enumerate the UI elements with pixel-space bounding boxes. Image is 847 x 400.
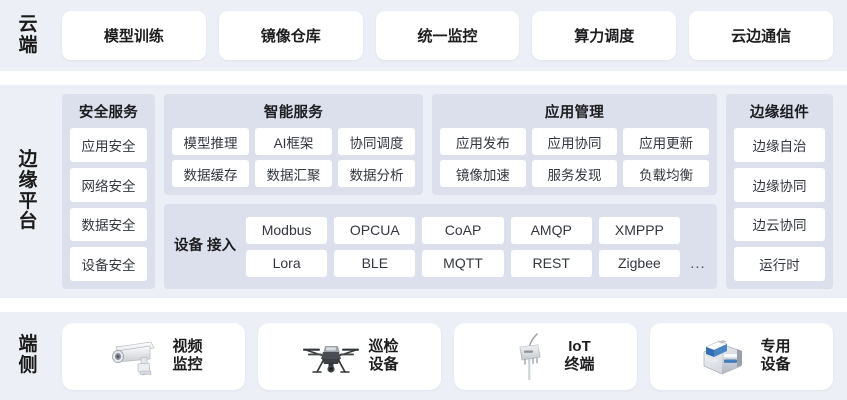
app-management-grid: 应用发布 应用协同 应用更新 镜像加速 服务发现 负载均衡 (440, 128, 709, 187)
device-access-label-line-0: 设备 (174, 238, 203, 254)
component-item-edge-autonomy[interactable]: 边缘自治 (734, 128, 825, 162)
component-item-runtime[interactable]: 运行时 (734, 247, 825, 281)
device-card-dedicated-equipment-label: 专用 设备 (760, 338, 790, 373)
cloud-card-unified-monitoring[interactable]: 统一监控 (376, 11, 520, 60)
protocol-amqp[interactable]: AMQP (511, 217, 592, 244)
security-services-title: 安全服务 (70, 101, 147, 122)
protocol-more-ellipsis[interactable]: ... (687, 255, 709, 272)
device-card-dedicated-equipment[interactable]: 专用 设备 (650, 323, 833, 390)
protocol-zigbee[interactable]: Zigbee (599, 250, 680, 277)
protocol-rest[interactable]: REST (511, 250, 592, 277)
edge-platform-body: 安全服务 应用安全 网络安全 数据安全 设备安全 智能服务 模型推理 (56, 85, 847, 298)
smart-services-title: 智能服务 (172, 101, 415, 122)
smart-item-data-analysis[interactable]: 数据分析 (338, 160, 415, 187)
smart-item-data-aggregation[interactable]: 数据汇聚 (255, 160, 332, 187)
smart-item-collaborative-scheduling[interactable]: 协同调度 (338, 128, 415, 155)
iot-sensor-icon (496, 328, 558, 384)
smart-services-panel: 智能服务 模型推理 AI框架 协同调度 数据缓存 数据汇聚 数据分析 (164, 94, 423, 195)
device-access-label-line-1: 接入 (207, 238, 236, 254)
app-management-panel: 应用管理 应用发布 应用协同 应用更新 镜像加速 服务发现 负载均衡 (432, 94, 717, 195)
edge-platform-label: 边 缘 平 台 (0, 85, 56, 298)
device-access-protocol-grid: Modbus OPCUA CoAP AMQP XMPPP Lora BLE MQ… (246, 217, 709, 277)
cloud-layer-label: 云 端 (0, 0, 56, 71)
device-access-label: 设备 接入 (172, 238, 238, 254)
edge-components-list: 边缘自治 边缘协同 边云协同 运行时 (734, 128, 825, 281)
device-card-video-surveillance[interactable]: 视频 监控 (62, 323, 245, 390)
cloud-layer-body: 模型训练 镜像仓库 统一监控 算力调度 云边通信 (56, 0, 847, 71)
app-management-title: 应用管理 (440, 101, 709, 122)
cloud-label-char-1: 端 (18, 36, 37, 57)
cloud-card-model-training[interactable]: 模型训练 (62, 11, 206, 60)
cloud-label-char-0: 云 (18, 15, 37, 36)
security-item-data-security[interactable]: 数据安全 (70, 208, 147, 242)
security-item-device-security[interactable]: 设备安全 (70, 247, 147, 281)
security-services-column: 安全服务 应用安全 网络安全 数据安全 设备安全 (62, 94, 155, 289)
device-label-line-1: 设备 (760, 356, 790, 374)
drone-icon (300, 328, 362, 384)
cloud-card-row: 模型训练 镜像仓库 统一监控 算力调度 云边通信 (56, 0, 847, 71)
protocol-opcua[interactable]: OPCUA (334, 217, 415, 244)
cloud-card-compute-scheduling[interactable]: 算力调度 (532, 11, 676, 60)
cloud-card-image-registry[interactable]: 镜像仓库 (219, 11, 363, 60)
device-label-line-0: 视频 (172, 338, 202, 356)
device-card-inspection-drone-label: 巡检 设备 (368, 338, 398, 373)
device-label-line-0: 专用 (760, 338, 790, 356)
edge-label-char-3: 台 (18, 212, 37, 233)
app-item-image-acceleration[interactable]: 镜像加速 (440, 160, 526, 187)
app-item-load-balancing[interactable]: 负载均衡 (623, 160, 709, 187)
cctv-camera-icon (104, 328, 166, 384)
protocol-modbus[interactable]: Modbus (246, 217, 327, 244)
protocol-mqtt[interactable]: MQTT (422, 250, 503, 277)
security-item-app-security[interactable]: 应用安全 (70, 128, 147, 162)
device-card-video-surveillance-label: 视频 监控 (172, 338, 202, 373)
component-item-edge-collaboration[interactable]: 边缘协同 (734, 168, 825, 202)
edge-label-char-2: 平 (18, 192, 37, 213)
app-item-app-update[interactable]: 应用更新 (623, 128, 709, 155)
device-card-inspection-drone[interactable]: 巡检 设备 (258, 323, 441, 390)
device-label-line-1: 终端 (564, 356, 594, 374)
device-access-panel: 设备 接入 Modbus OPCUA CoAP AMQP XMPPP Lora … (164, 204, 717, 289)
device-layer-band: 端 侧 (0, 312, 847, 400)
architecture-diagram: 云 端 模型训练 镜像仓库 统一监控 算力调度 云边通信 边 缘 平 台 安全服… (0, 0, 847, 400)
app-item-service-discovery[interactable]: 服务发现 (532, 160, 618, 187)
component-item-edge-cloud-collaboration[interactable]: 边云协同 (734, 208, 825, 242)
protocol-xmppp[interactable]: XMPPP (599, 217, 680, 244)
edge-label-char-1: 缘 (18, 171, 37, 192)
protocol-coap[interactable]: CoAP (422, 217, 503, 244)
cloud-layer-band: 云 端 模型训练 镜像仓库 统一监控 算力调度 云边通信 (0, 0, 847, 71)
security-services-list: 应用安全 网络安全 数据安全 设备安全 (70, 128, 147, 281)
device-layer-body: 视频 监控 (56, 312, 847, 400)
device-label-char-0: 端 (18, 335, 37, 356)
app-item-app-release[interactable]: 应用发布 (440, 128, 526, 155)
device-label-line-0: 巡检 (368, 338, 398, 356)
device-card-iot-terminal-label: IoT 终端 (564, 338, 594, 373)
edge-center-top-row: 智能服务 模型推理 AI框架 协同调度 数据缓存 数据汇聚 数据分析 应用管理 (164, 94, 717, 195)
device-label-line-1: 监控 (172, 356, 202, 374)
industrial-machine-icon (692, 328, 754, 384)
smart-item-model-inference[interactable]: 模型推理 (172, 128, 249, 155)
protocol-lora[interactable]: Lora (246, 250, 327, 277)
device-card-row: 视频 监控 (56, 312, 847, 400)
device-label-char-1: 侧 (18, 356, 37, 377)
device-label-line-0: IoT (564, 338, 594, 356)
smart-item-ai-framework[interactable]: AI框架 (255, 128, 332, 155)
device-layer-label: 端 侧 (0, 312, 56, 400)
protocol-ble[interactable]: BLE (334, 250, 415, 277)
app-item-app-collaboration[interactable]: 应用协同 (532, 128, 618, 155)
smart-services-grid: 模型推理 AI框架 协同调度 数据缓存 数据汇聚 数据分析 (172, 128, 415, 187)
edge-components-column: 边缘组件 边缘自治 边缘协同 边云协同 运行时 (726, 94, 833, 289)
edge-center-column: 智能服务 模型推理 AI框架 协同调度 数据缓存 数据汇聚 数据分析 应用管理 (164, 94, 717, 289)
device-card-iot-terminal[interactable]: IoT 终端 (454, 323, 637, 390)
device-label-line-1: 设备 (368, 356, 398, 374)
security-item-network-security[interactable]: 网络安全 (70, 168, 147, 202)
edge-platform-band: 边 缘 平 台 安全服务 应用安全 网络安全 数据安全 设备安全 (0, 85, 847, 298)
smart-item-data-cache[interactable]: 数据缓存 (172, 160, 249, 187)
security-services-panel: 安全服务 应用安全 网络安全 数据安全 设备安全 (62, 94, 155, 289)
edge-label-char-0: 边 (18, 150, 37, 171)
edge-components-panel: 边缘组件 边缘自治 边缘协同 边云协同 运行时 (726, 94, 833, 289)
cloud-card-cloud-edge-communication[interactable]: 云边通信 (689, 11, 833, 60)
edge-components-title: 边缘组件 (734, 101, 825, 122)
